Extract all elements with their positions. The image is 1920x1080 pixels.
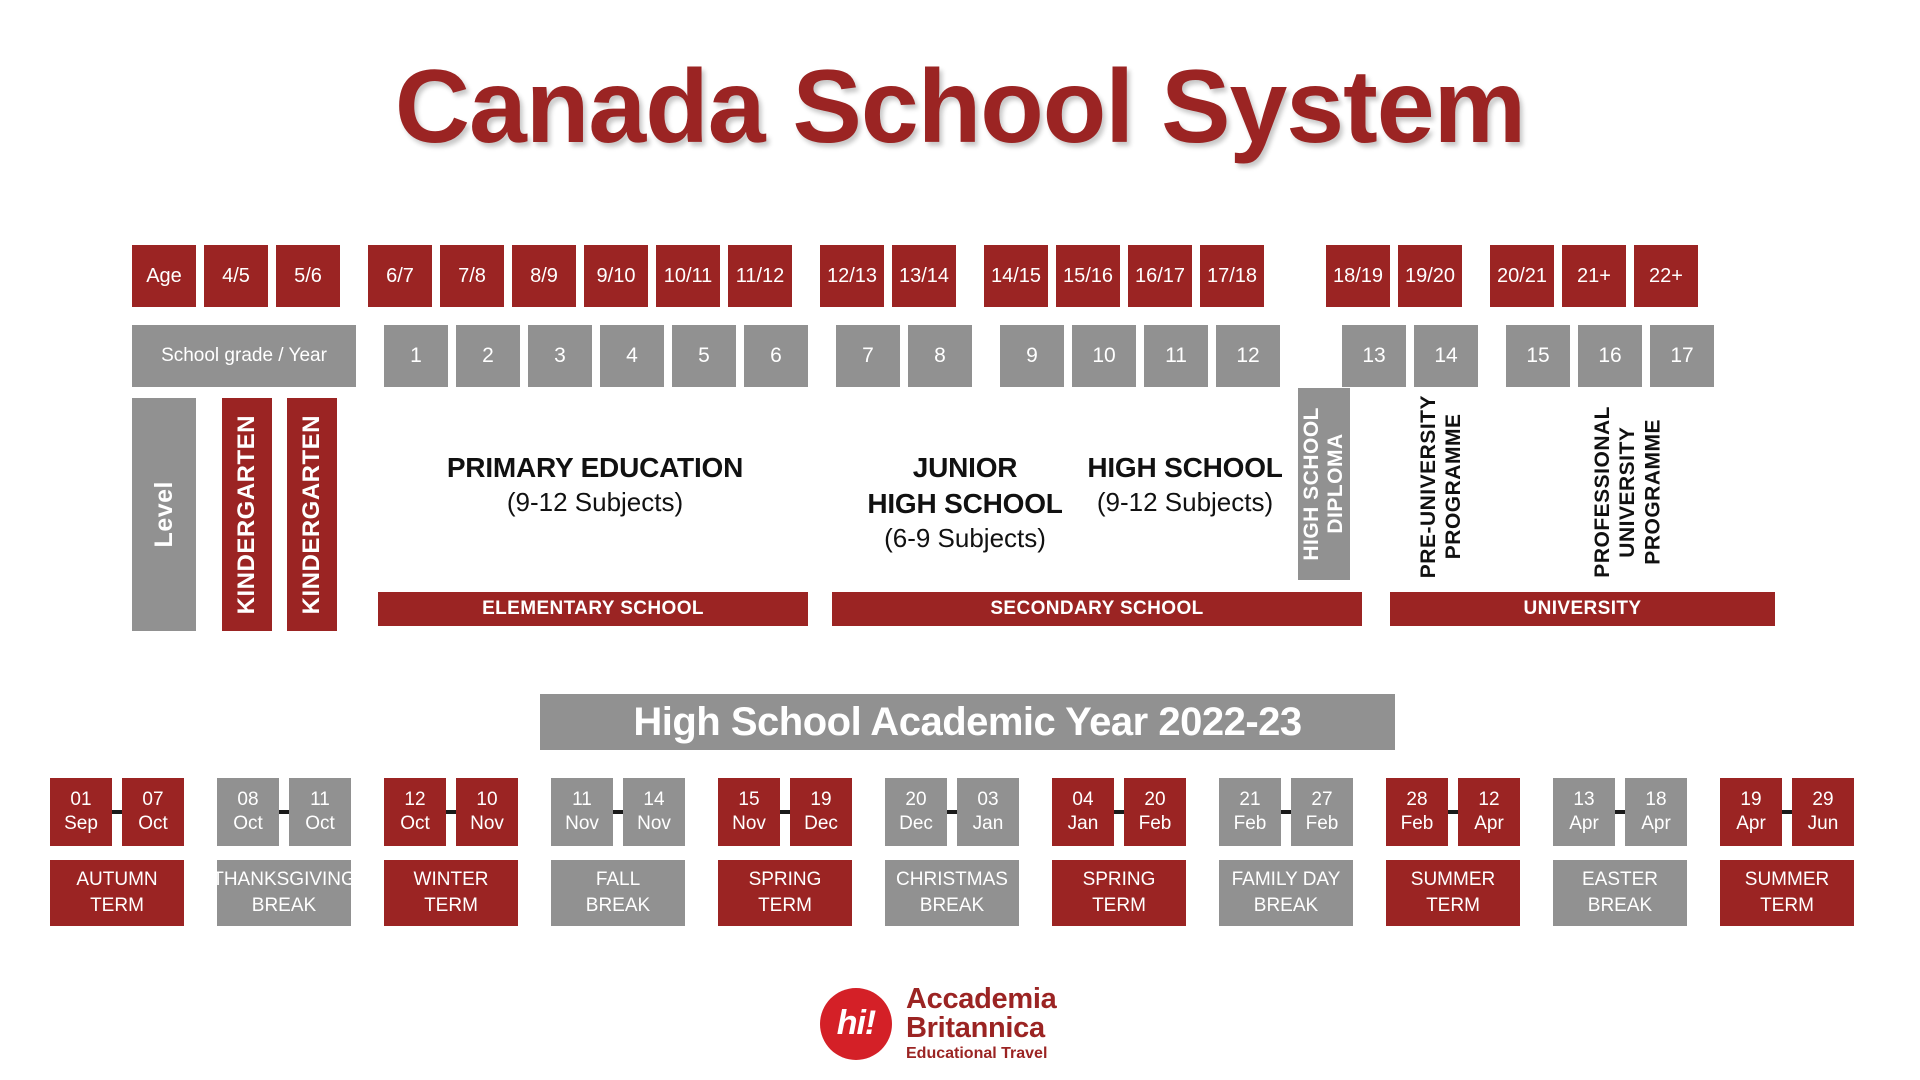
- term-group: 12Oct10NovWINTERTERM: [384, 778, 518, 926]
- term-start-day: 20: [905, 788, 926, 812]
- term-end-date: 10Nov: [456, 778, 518, 846]
- banner-elementary-school: ELEMENTARY SCHOOL: [378, 592, 808, 626]
- age-row: Age4/55/66/77/88/99/1010/1111/1212/1313/…: [132, 245, 1706, 307]
- term-end-day: 27: [1311, 788, 1332, 812]
- banner-university: UNIVERSITY: [1390, 592, 1775, 626]
- age-cell-12-13: 12/13: [820, 245, 884, 307]
- term-start-date: 21Feb: [1219, 778, 1281, 846]
- term-name-line2: TERM: [1426, 893, 1480, 919]
- age-row-label: Age: [132, 245, 196, 307]
- term-group: 01Sep07OctAUTUMNTERM: [50, 778, 184, 926]
- term-name: WINTERTERM: [384, 860, 518, 926]
- academic-year-header: High School Academic Year 2022-23: [540, 694, 1395, 750]
- term-name-line1: CHRISTMAS: [896, 867, 1008, 893]
- term-start-day: 15: [738, 788, 759, 812]
- grade-cell-11: 11: [1144, 325, 1208, 387]
- infographic-page: Canada School System Age4/55/66/77/88/99…: [0, 0, 1920, 1080]
- term-name-line2: TERM: [424, 893, 478, 919]
- term-group: 19Apr29JunSUMMERTERM: [1720, 778, 1854, 926]
- term-end-day: 19: [810, 788, 831, 812]
- term-start-month: Sep: [64, 812, 98, 836]
- date-range-dash-icon: [1615, 810, 1625, 814]
- age-cell-19-20: 19/20: [1398, 245, 1462, 307]
- grade-cell-4: 4: [600, 325, 664, 387]
- kindergarten-2-label: KINDERGARTEN: [298, 415, 326, 614]
- term-start-month: Dec: [899, 812, 933, 836]
- term-end-day: 29: [1812, 788, 1833, 812]
- term-group: 04Jan20FebSPRINGTERM: [1052, 778, 1186, 926]
- term-end-date: 20Feb: [1124, 778, 1186, 846]
- term-group: 21Feb27FebFAMILY DAYBREAK: [1219, 778, 1353, 926]
- grade-cell-14: 14: [1414, 325, 1478, 387]
- age-cell-17-18: 17/18: [1200, 245, 1264, 307]
- grade-cell-12: 12: [1216, 325, 1280, 387]
- term-date-range: 13Apr18Apr: [1553, 778, 1687, 846]
- term-name-line2: BREAK: [586, 893, 650, 919]
- term-name: SPRINGTERM: [718, 860, 852, 926]
- logo-text: Accademia Britannica Educational Travel: [906, 985, 1056, 1062]
- term-start-date: 04Jan: [1052, 778, 1114, 846]
- banner-secondary-school: SECONDARY SCHOOL: [832, 592, 1362, 626]
- term-start-month: Nov: [565, 812, 599, 836]
- term-group: 08Oct11OctTHANKSGIVINGBREAK: [217, 778, 351, 926]
- term-start-date: 12Oct: [384, 778, 446, 846]
- grade-cell-6: 6: [744, 325, 808, 387]
- term-date-range: 28Feb12Apr: [1386, 778, 1520, 846]
- date-range-dash-icon: [1114, 810, 1124, 814]
- term-end-date: 29Jun: [1792, 778, 1854, 846]
- term-name-line2: TERM: [1760, 893, 1814, 919]
- term-end-month: Feb: [1306, 812, 1339, 836]
- grade-cell-3: 3: [528, 325, 592, 387]
- term-name-line1: FAMILY DAY: [1232, 867, 1341, 893]
- term-start-date: 15Nov: [718, 778, 780, 846]
- grade-cell-7: 7: [836, 325, 900, 387]
- term-name: SUMMERTERM: [1720, 860, 1854, 926]
- term-start-day: 12: [404, 788, 425, 812]
- term-name-line2: BREAK: [920, 893, 984, 919]
- grade-cell-17: 17: [1650, 325, 1714, 387]
- term-name-line2: TERM: [90, 893, 144, 919]
- term-end-month: Nov: [637, 812, 671, 836]
- term-name-line1: WINTER: [414, 867, 489, 893]
- term-end-month: Oct: [138, 812, 168, 836]
- date-range-dash-icon: [613, 810, 623, 814]
- term-group: 20Dec03JanCHRISTMASBREAK: [885, 778, 1019, 926]
- term-end-month: Jan: [973, 812, 1004, 836]
- term-end-date: 11Oct: [289, 778, 351, 846]
- term-start-day: 11: [572, 788, 592, 812]
- age-cell-5-6: 5/6: [276, 245, 340, 307]
- level-label-box: Level: [132, 398, 196, 631]
- term-end-date: 27Feb: [1291, 778, 1353, 846]
- term-name-line1: SUMMER: [1411, 867, 1495, 893]
- grade-cell-13: 13: [1342, 325, 1406, 387]
- term-name: FALLBREAK: [551, 860, 685, 926]
- age-cell-4-5: 4/5: [204, 245, 268, 307]
- term-name-line1: FALL: [596, 867, 640, 893]
- term-name-line2: TERM: [758, 893, 812, 919]
- kindergarten-1-box: KINDERGARTEN: [222, 398, 272, 631]
- page-title: Canada School System: [0, 48, 1920, 167]
- date-range-dash-icon: [112, 810, 122, 814]
- pre-university-programme-label: PRE-UNIVERSITYPROGRAMME: [1416, 398, 1466, 578]
- term-start-date: 08Oct: [217, 778, 279, 846]
- term-end-month: Dec: [804, 812, 838, 836]
- term-end-date: 12Apr: [1458, 778, 1520, 846]
- high-school-block: HIGH SCHOOL (9-12 Subjects): [1040, 450, 1330, 520]
- term-end-day: 07: [142, 788, 163, 812]
- term-end-day: 20: [1144, 788, 1165, 812]
- term-start-date: 13Apr: [1553, 778, 1615, 846]
- kindergarten-2-box: KINDERGARTEN: [287, 398, 337, 631]
- age-cell-20-21: 20/21: [1490, 245, 1554, 307]
- junior-high-school-subtitle: (6-9 Subjects): [830, 522, 1100, 556]
- term-start-date: 01Sep: [50, 778, 112, 846]
- date-range-dash-icon: [1782, 810, 1792, 814]
- term-date-range: 21Feb27Feb: [1219, 778, 1353, 846]
- grade-row-label: School grade / Year: [132, 325, 356, 387]
- term-name-line2: TERM: [1092, 893, 1146, 919]
- term-end-date: 18Apr: [1625, 778, 1687, 846]
- term-name-line1: EASTER: [1582, 867, 1658, 893]
- date-range-dash-icon: [446, 810, 456, 814]
- high-school-title: HIGH SCHOOL: [1040, 450, 1330, 486]
- term-group: 28Feb12AprSUMMERTERM: [1386, 778, 1520, 926]
- term-start-day: 28: [1406, 788, 1427, 812]
- grade-cell-8: 8: [908, 325, 972, 387]
- term-end-date: 14Nov: [623, 778, 685, 846]
- age-cell-14-15: 14/15: [984, 245, 1048, 307]
- term-start-date: 28Feb: [1386, 778, 1448, 846]
- logo-line-3: Educational Travel: [906, 1046, 1056, 1062]
- term-end-month: Jun: [1808, 812, 1839, 836]
- term-start-date: 11Nov: [551, 778, 613, 846]
- term-end-date: 07Oct: [122, 778, 184, 846]
- age-cell-7-8: 7/8: [440, 245, 504, 307]
- term-end-day: 18: [1645, 788, 1666, 812]
- term-start-month: Oct: [233, 812, 263, 836]
- age-cell-22-: 22+: [1634, 245, 1698, 307]
- term-name: SUMMERTERM: [1386, 860, 1520, 926]
- grade-cell-5: 5: [672, 325, 736, 387]
- primary-education-title: PRIMARY EDUCATION: [380, 450, 810, 486]
- term-name: FAMILY DAYBREAK: [1219, 860, 1353, 926]
- term-end-day: 14: [643, 788, 664, 812]
- term-start-date: 20Dec: [885, 778, 947, 846]
- term-date-range: 19Apr29Jun: [1720, 778, 1854, 846]
- term-start-date: 19Apr: [1720, 778, 1782, 846]
- level-label-text: Level: [150, 481, 179, 547]
- term-start-day: 19: [1740, 788, 1761, 812]
- term-name-line1: SPRING: [749, 867, 822, 893]
- age-cell-18-19: 18/19: [1326, 245, 1390, 307]
- age-cell-6-7: 6/7: [368, 245, 432, 307]
- age-cell-10-11: 10/11: [656, 245, 720, 307]
- term-name: AUTUMNTERM: [50, 860, 184, 926]
- term-start-day: 04: [1072, 788, 1093, 812]
- kindergarten-1-label: KINDERGARTEN: [233, 415, 261, 614]
- date-range-dash-icon: [279, 810, 289, 814]
- term-end-month: Oct: [305, 812, 335, 836]
- term-name-line1: AUTUMN: [76, 867, 157, 893]
- grade-cell-10: 10: [1072, 325, 1136, 387]
- term-end-day: 11: [310, 788, 330, 812]
- term-start-month: Nov: [732, 812, 766, 836]
- age-cell-15-16: 15/16: [1056, 245, 1120, 307]
- grade-cell-9: 9: [1000, 325, 1064, 387]
- date-range-dash-icon: [947, 810, 957, 814]
- term-name: CHRISTMASBREAK: [885, 860, 1019, 926]
- term-name-line2: BREAK: [1254, 893, 1318, 919]
- term-start-day: 13: [1573, 788, 1594, 812]
- term-name: EASTERBREAK: [1553, 860, 1687, 926]
- term-date-range: 04Jan20Feb: [1052, 778, 1186, 846]
- date-range-dash-icon: [780, 810, 790, 814]
- term-end-day: 03: [977, 788, 998, 812]
- term-end-day: 10: [476, 788, 497, 812]
- term-date-range: 01Sep07Oct: [50, 778, 184, 846]
- age-cell-21-: 21+: [1562, 245, 1626, 307]
- term-end-date: 03Jan: [957, 778, 1019, 846]
- term-name-line1: SUMMER: [1745, 867, 1829, 893]
- term-name-line2: BREAK: [1588, 893, 1652, 919]
- logo-line-2: Britannica: [906, 1014, 1056, 1043]
- term-start-day: 01: [70, 788, 91, 812]
- primary-education-block: PRIMARY EDUCATION (9-12 Subjects): [380, 450, 810, 520]
- term-name: THANKSGIVINGBREAK: [217, 860, 351, 926]
- logo: hi! Accademia Britannica Educational Tra…: [820, 985, 1056, 1062]
- term-date-range: 12Oct10Nov: [384, 778, 518, 846]
- date-range-dash-icon: [1448, 810, 1458, 814]
- term-start-month: Jan: [1068, 812, 1099, 836]
- age-cell-9-10: 9/10: [584, 245, 648, 307]
- term-start-day: 21: [1239, 788, 1260, 812]
- term-start-month: Apr: [1569, 812, 1599, 836]
- date-range-dash-icon: [1281, 810, 1291, 814]
- age-cell-11-12: 11/12: [728, 245, 792, 307]
- term-group: 11Nov14NovFALLBREAK: [551, 778, 685, 926]
- term-group: 13Apr18AprEASTERBREAK: [1553, 778, 1687, 926]
- logo-mark-icon: hi!: [820, 988, 892, 1060]
- high-school-subtitle: (9-12 Subjects): [1040, 486, 1330, 520]
- term-start-month: Apr: [1736, 812, 1766, 836]
- term-end-month: Apr: [1474, 812, 1504, 836]
- grade-cell-15: 15: [1506, 325, 1570, 387]
- term-date-range: 15Nov19Dec: [718, 778, 852, 846]
- grade-cell-1: 1: [384, 325, 448, 387]
- term-start-month: Oct: [400, 812, 430, 836]
- term-group: 15Nov19DecSPRINGTERM: [718, 778, 852, 926]
- term-end-month: Feb: [1139, 812, 1172, 836]
- term-start-day: 08: [237, 788, 258, 812]
- term-name: SPRINGTERM: [1052, 860, 1186, 926]
- term-start-month: Feb: [1234, 812, 1267, 836]
- age-cell-13-14: 13/14: [892, 245, 956, 307]
- term-end-month: Nov: [470, 812, 504, 836]
- term-name-line1: THANKSGIVING: [212, 867, 356, 893]
- term-name-line2: BREAK: [252, 893, 316, 919]
- primary-education-subtitle: (9-12 Subjects): [380, 486, 810, 520]
- term-end-date: 19Dec: [790, 778, 852, 846]
- term-end-month: Apr: [1641, 812, 1671, 836]
- professional-university-programme-label: PROFESSIONALUNIVERSITYPROGRAMME: [1590, 398, 1666, 578]
- grade-cell-16: 16: [1578, 325, 1642, 387]
- grade-cell-2: 2: [456, 325, 520, 387]
- term-date-range: 11Nov14Nov: [551, 778, 685, 846]
- age-cell-16-17: 16/17: [1128, 245, 1192, 307]
- age-cell-8-9: 8/9: [512, 245, 576, 307]
- term-start-month: Feb: [1401, 812, 1434, 836]
- term-end-day: 12: [1478, 788, 1499, 812]
- term-date-range: 20Dec03Jan: [885, 778, 1019, 846]
- term-date-range: 08Oct11Oct: [217, 778, 351, 846]
- logo-line-1: Accademia: [906, 985, 1056, 1014]
- term-name-line1: SPRING: [1083, 867, 1156, 893]
- grade-row: School grade / Year123456789101112131415…: [132, 325, 1722, 387]
